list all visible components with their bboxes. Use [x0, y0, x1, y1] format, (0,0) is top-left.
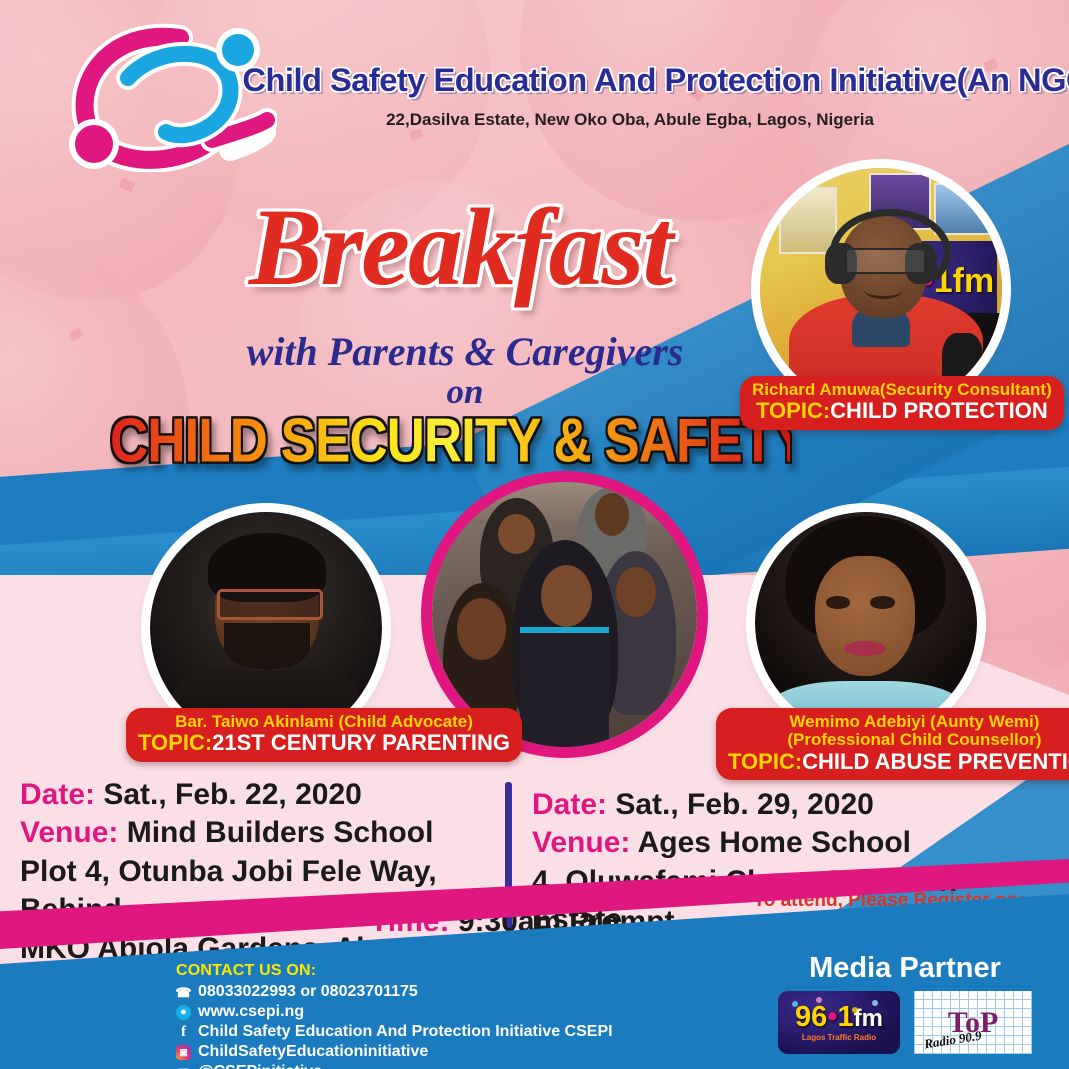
contact-twitter-text[interactable]: @CSEPinitiative: [198, 1063, 322, 1069]
speaker-role: (Professional Child Counsellor): [728, 731, 1069, 749]
date-label: Date:: [20, 778, 95, 811]
venue-label: Venue:: [20, 816, 118, 849]
topic-value: CHILD PROTECTION: [830, 398, 1048, 423]
media-partner-block: Media Partner 96•1fm Lagos Traffic Radio…: [760, 952, 1050, 1054]
logo-961-fm: fm: [854, 1005, 883, 1032]
speaker-photo-wemimo: [755, 512, 977, 734]
contact-row-instagram[interactable]: ▣ ChildSafetyEducationinitiative: [176, 1043, 736, 1061]
logo-961-tagline: Lagos Traffic Radio: [802, 1033, 876, 1042]
date-value: Sat., Feb. 29, 2020: [615, 788, 873, 821]
breakfast-script-title: Breakfast: [200, 192, 720, 302]
headline-child-security-safety: CHILD SECURITY & SAFETY: [110, 405, 790, 477]
speaker-name: Wemimo Adebiyi (Aunty Wemi): [728, 713, 1069, 731]
topic-value: 21ST CENTURY PARENTING: [212, 730, 510, 755]
topic-value: CHILD ABUSE PREVENTION: [802, 749, 1069, 774]
contact-phone-text: 08033022993 or 08023701175: [198, 983, 418, 1001]
contact-row-facebook[interactable]: f Child Safety Education And Protection …: [176, 1023, 736, 1041]
topic-label: TOPIC:: [756, 398, 830, 423]
speaker-name: Richard Amuwa(Security Consultant): [752, 381, 1052, 399]
contact-row-twitter[interactable]: ✉ @CSEPinitiative: [176, 1063, 736, 1069]
venue-label: Venue:: [532, 826, 630, 859]
logo-961-one: 1: [837, 1001, 853, 1033]
twitter-icon: ✉: [176, 1065, 191, 1069]
phone-icon: ☎: [176, 985, 191, 1000]
contact-row-phone: ☎ 08033022993 or 08023701175: [176, 983, 736, 1001]
logo-961fm-icon: 96•1fm Lagos Traffic Radio: [778, 991, 900, 1054]
topic-label: TOPIC:: [728, 749, 802, 774]
contact-heading: CONTACT US ON:: [176, 962, 736, 980]
flyer-canvas: Child Safety Education And Protection In…: [0, 0, 1069, 1069]
contact-instagram-text[interactable]: ChildSafetyEducationinitiative: [198, 1043, 428, 1061]
topic-label: TOPIC:: [138, 730, 212, 755]
contact-row-website[interactable]: ● www.csepi.ng: [176, 1003, 736, 1021]
date-label: Date:: [532, 788, 607, 821]
contact-block: CONTACT US ON: ☎ 08033022993 or 08023701…: [176, 962, 736, 1069]
logo-961-dot: •: [827, 1001, 837, 1033]
instagram-icon: ▣: [176, 1045, 191, 1060]
speaker-photo-richard: 96•1fm: [760, 168, 1002, 410]
venue-value: Ages Home School: [638, 826, 911, 859]
organization-address: 22,Dasilva Estate, New Oko Oba, Abule Eg…: [250, 110, 1010, 130]
speaker-name: Bar. Taiwo Akinlami (Child Advocate): [138, 713, 510, 731]
media-partner-title: Media Partner: [760, 952, 1050, 985]
speaker-label-wemimo: Wemimo Adebiyi (Aunty Wemi) (Professiona…: [716, 708, 1069, 780]
speaker-label-richard: Richard Amuwa(Security Consultant) TOPIC…: [740, 376, 1064, 430]
contact-facebook-text[interactable]: Child Safety Education And Protection In…: [198, 1023, 613, 1041]
subtitle-with-parents: with Parents & Caregivers: [150, 328, 780, 375]
organization-name: Child Safety Education And Protection In…: [242, 62, 1017, 99]
header-band: Child Safety Education And Protection In…: [0, 0, 1069, 165]
speaker-label-taiwo: Bar. Taiwo Akinlami (Child Advocate) TOP…: [126, 708, 522, 762]
contact-website-text[interactable]: www.csepi.ng: [198, 1003, 304, 1021]
date-value: Sat., Feb. 22, 2020: [103, 778, 361, 811]
logo-topradio-icon: ToP Radio 90.9: [914, 991, 1032, 1054]
venue-value: Mind Builders School: [127, 816, 434, 849]
logo-961-number: 96: [795, 1001, 827, 1033]
website-icon: ●: [176, 1005, 191, 1020]
facebook-icon: f: [176, 1025, 191, 1040]
